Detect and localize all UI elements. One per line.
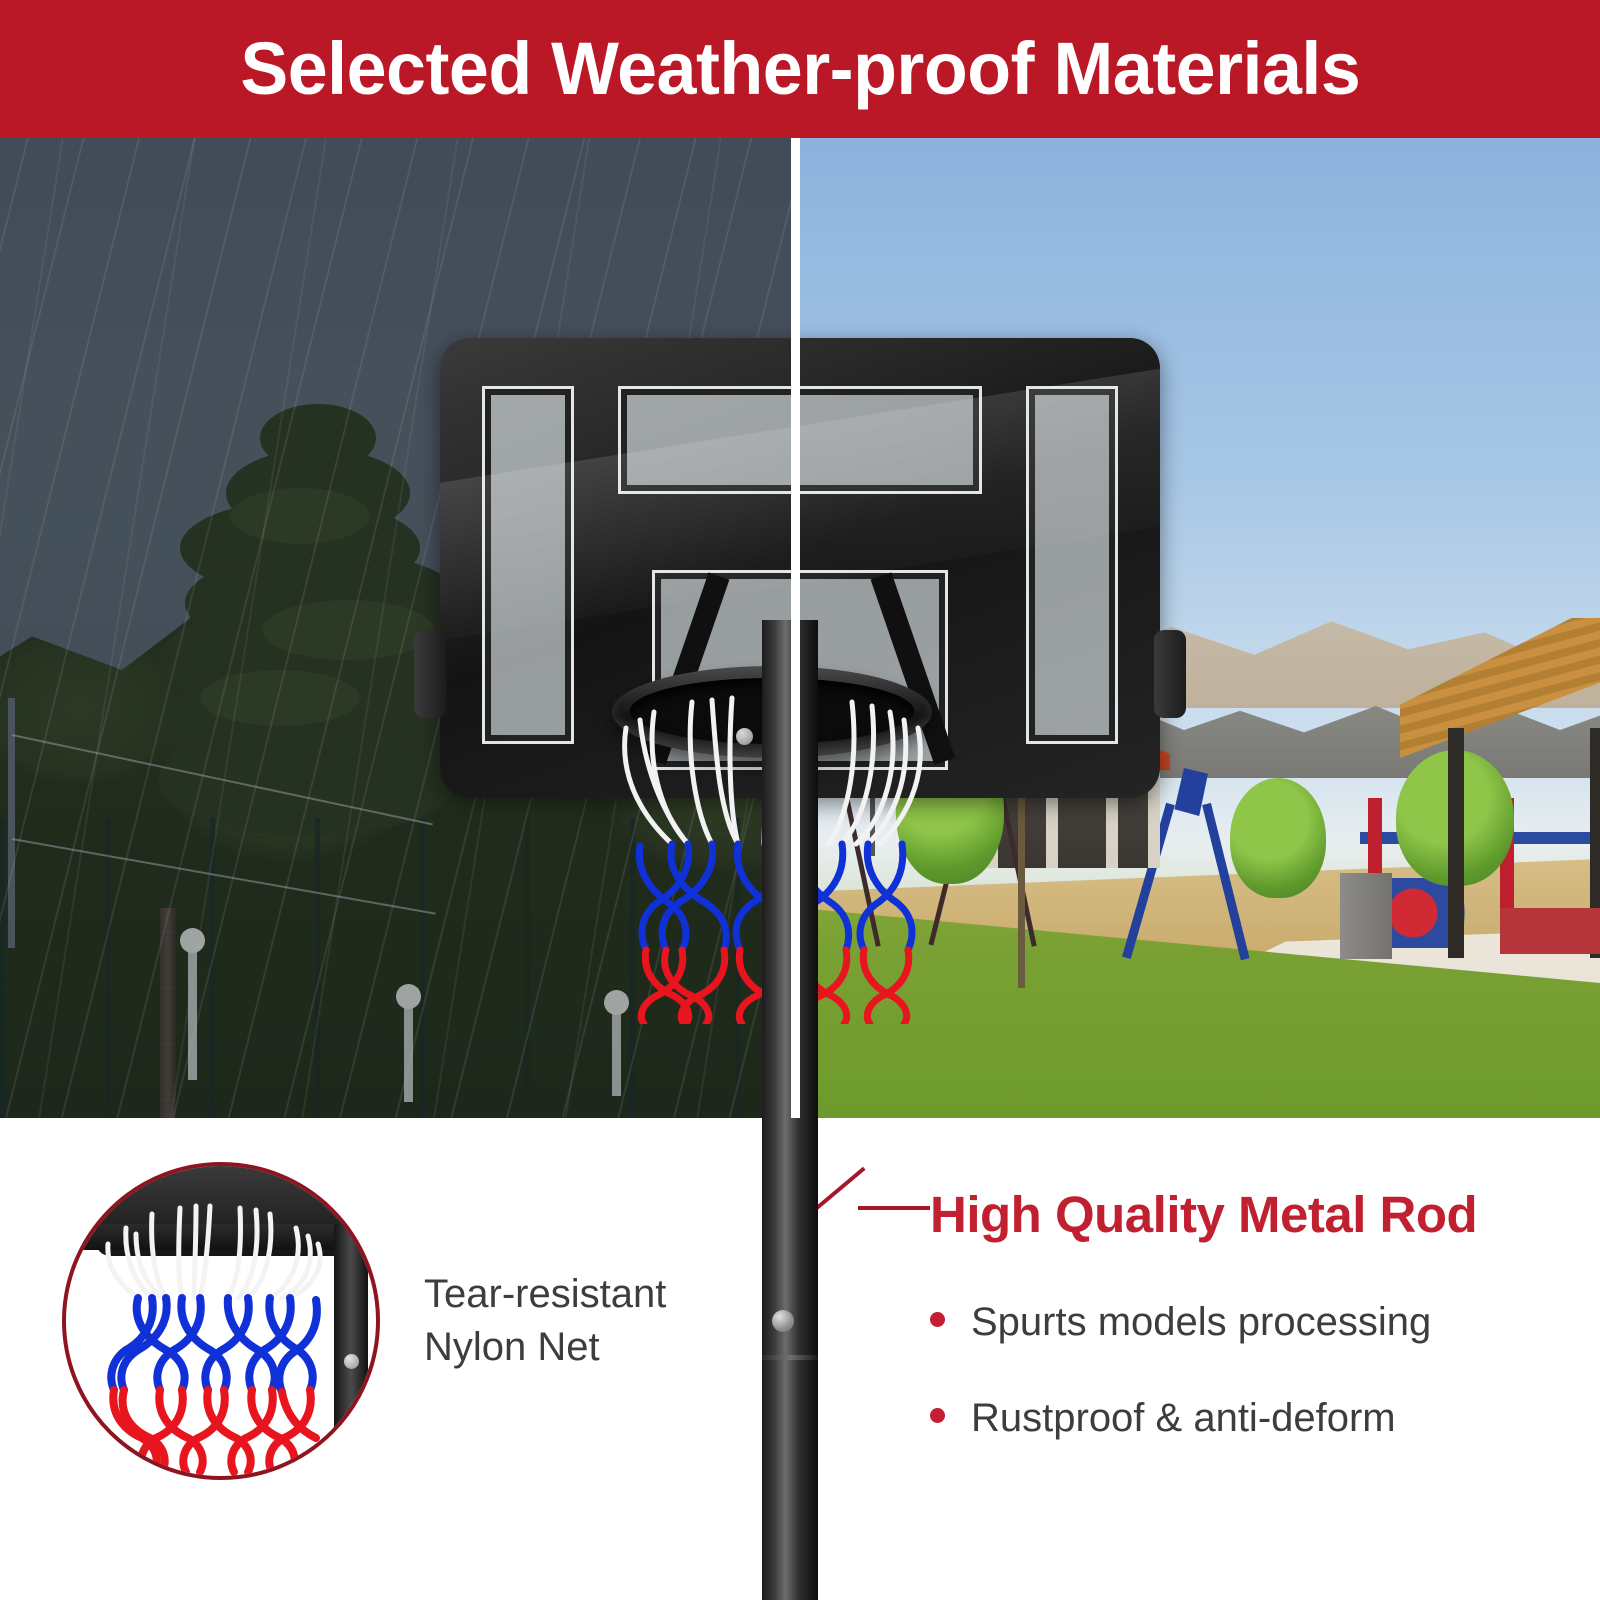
list-item: Rustproof & anti-deform bbox=[930, 1394, 1570, 1442]
pole-adjust-pin bbox=[772, 1310, 794, 1332]
net-closeup-circle bbox=[62, 1162, 380, 1480]
bullet-dot-icon bbox=[930, 1408, 945, 1423]
shrub-tree bbox=[1230, 778, 1326, 898]
rod-feature-heading: High Quality Metal Rod bbox=[930, 1188, 1570, 1242]
playground-arch-top bbox=[1168, 768, 1208, 816]
backboard-bracket-right bbox=[1154, 630, 1186, 718]
playground-slide bbox=[1380, 878, 1490, 948]
closeup-net-svg bbox=[66, 1166, 380, 1480]
bullet-dot-icon bbox=[930, 1312, 945, 1327]
scene-divider bbox=[791, 138, 800, 1118]
callout-leader-horizontal bbox=[858, 1206, 930, 1210]
list-item: Spurts models processing bbox=[930, 1298, 1570, 1346]
page-title: Selected Weather-proof Materials bbox=[240, 32, 1360, 106]
pole-joint-seam bbox=[762, 1355, 818, 1360]
header-banner: Selected Weather-proof Materials bbox=[0, 0, 1600, 138]
rod-feature-bullets: Spurts models processing Rustproof & ant… bbox=[930, 1298, 1570, 1442]
support-pole-lower bbox=[762, 620, 818, 1600]
picnic-table bbox=[1500, 908, 1600, 954]
bullet-text: Rustproof & anti-deform bbox=[971, 1394, 1396, 1442]
product-feature-infographic: Selected Weather-proof Materials bbox=[0, 0, 1600, 1600]
trash-can bbox=[1340, 873, 1392, 959]
bullet-text: Spurts models processing bbox=[971, 1298, 1431, 1346]
net-feature-label: Tear-resistant Nylon Net bbox=[424, 1268, 764, 1374]
net-label-line1: Tear-resistant bbox=[424, 1268, 764, 1321]
shelter-post bbox=[1448, 728, 1464, 958]
rod-feature-callout: High Quality Metal Rod Spurts models pro… bbox=[930, 1188, 1570, 1490]
net-label-line2: Nylon Net bbox=[424, 1321, 764, 1374]
backboard-bracket-left bbox=[414, 630, 446, 718]
